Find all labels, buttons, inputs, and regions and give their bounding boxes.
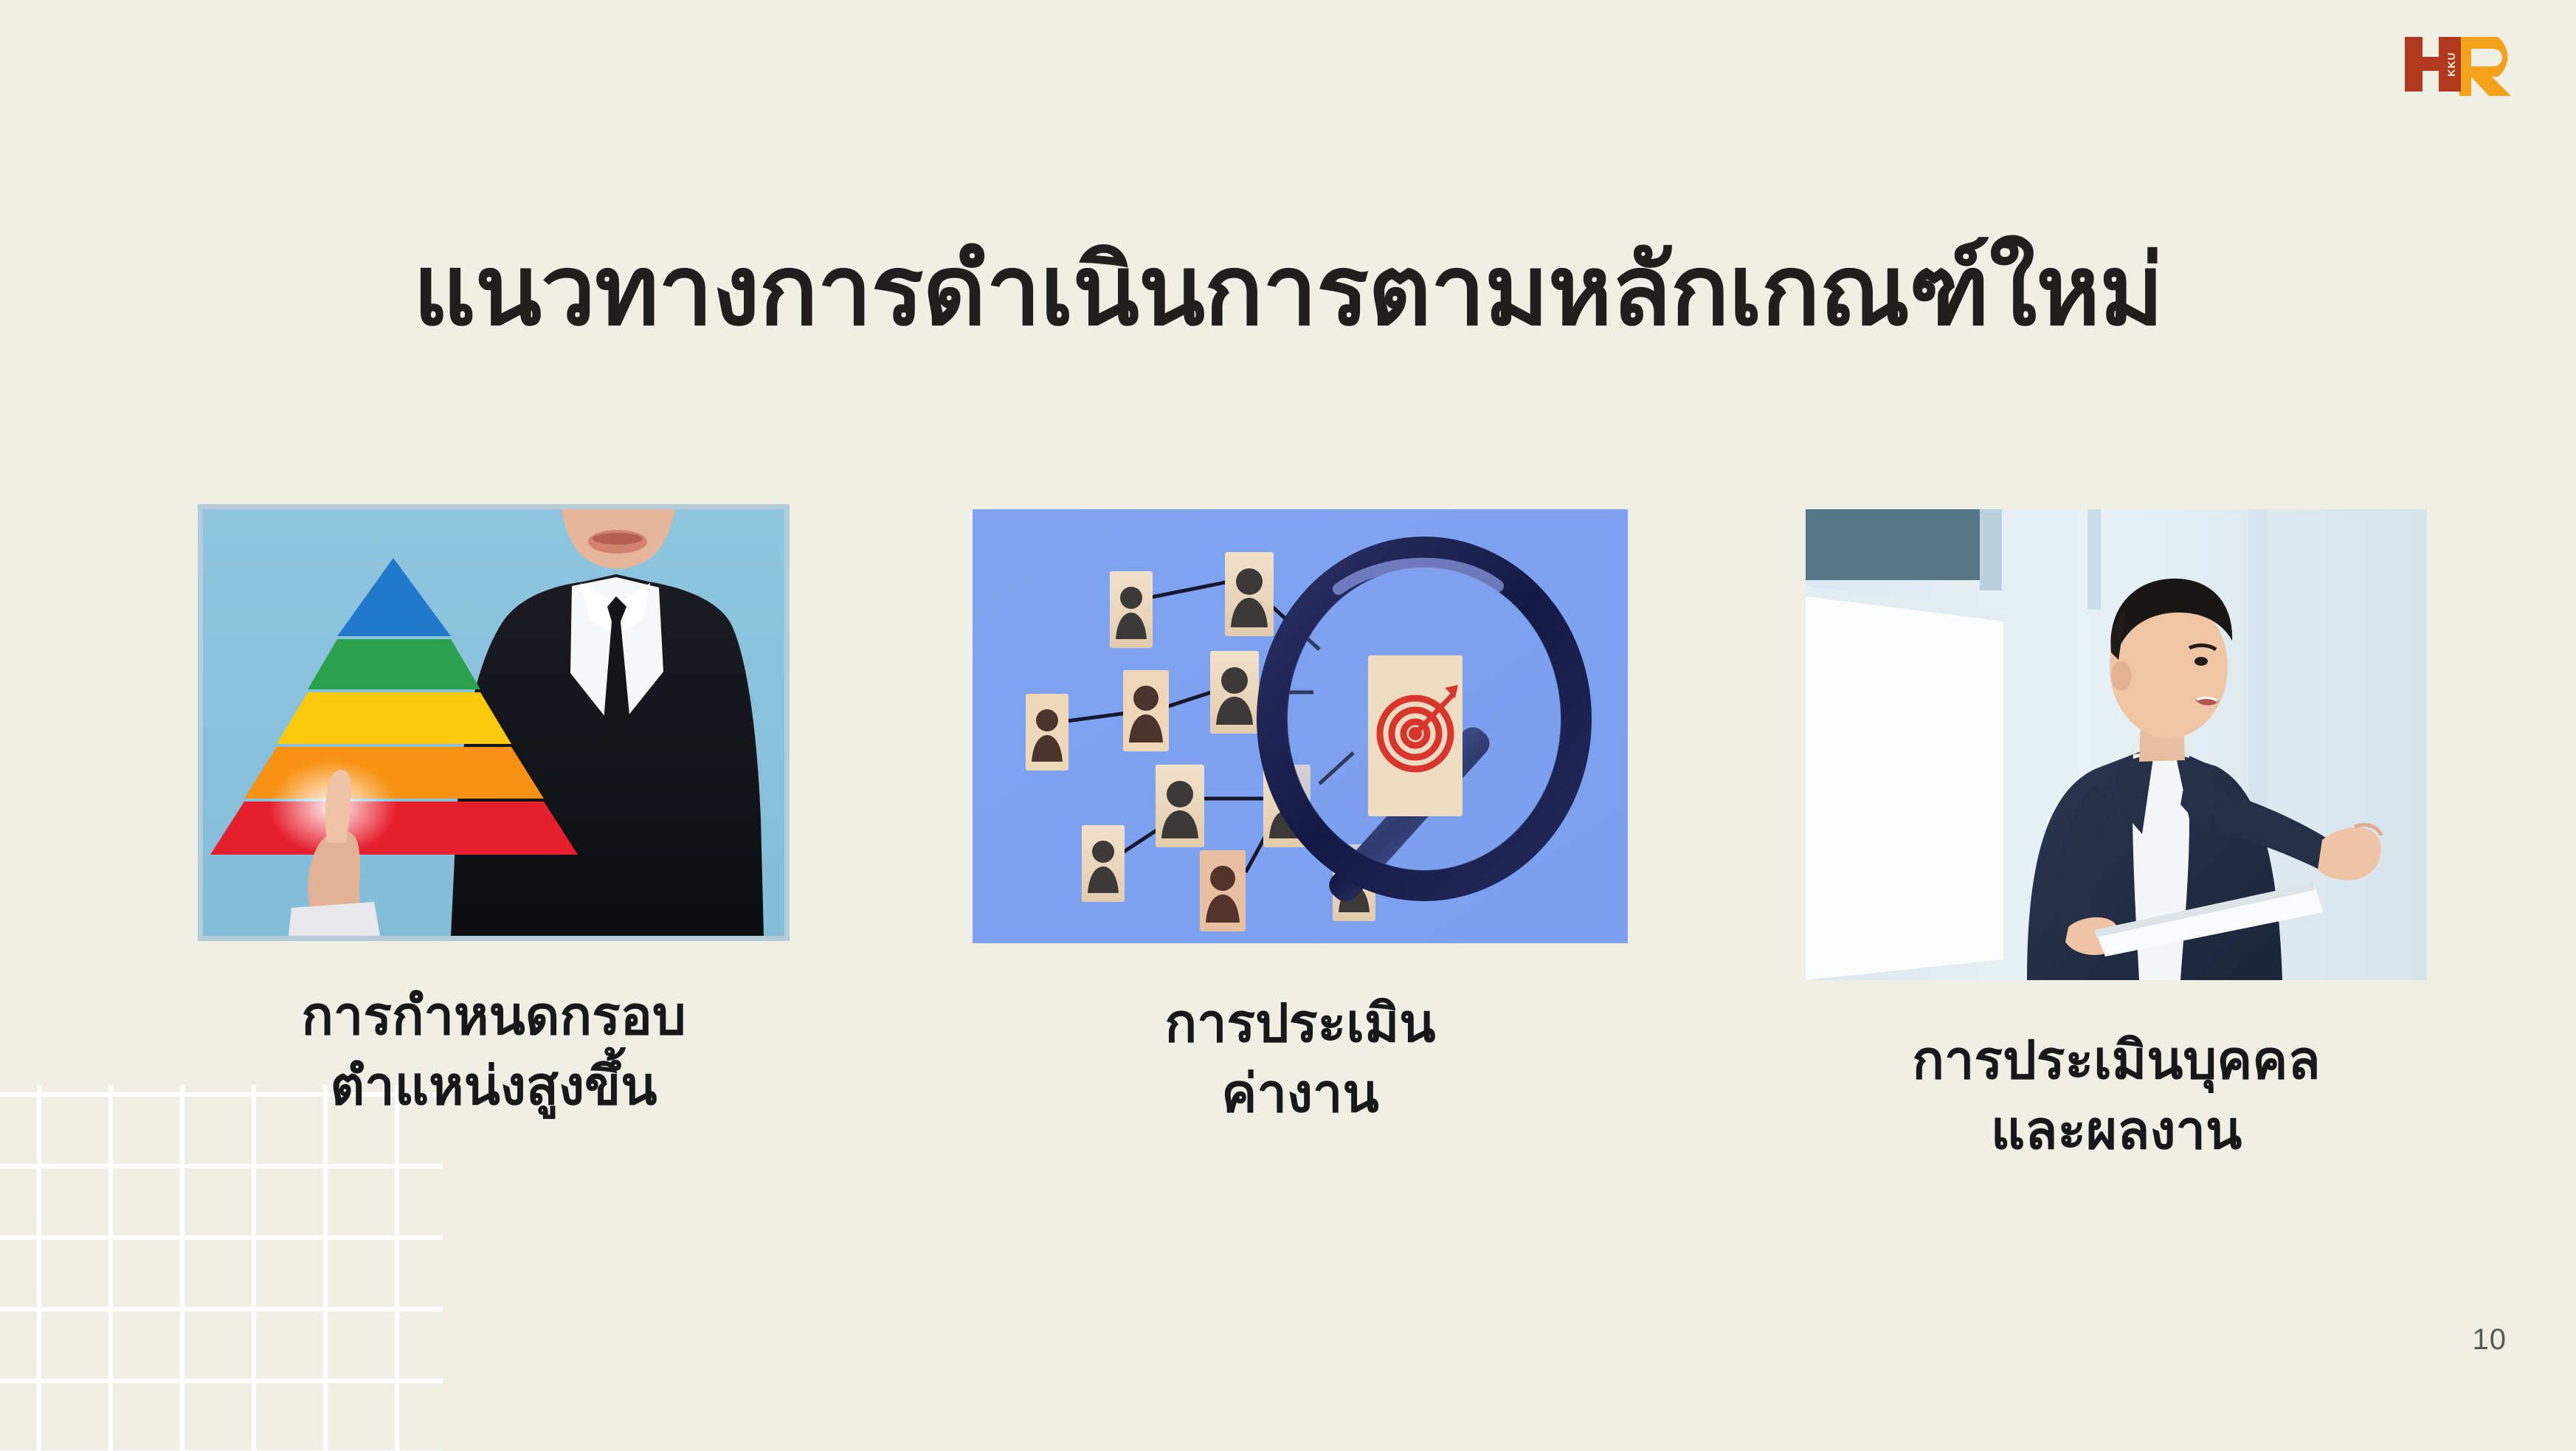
content-cards-row: การกำหนดกรอบ ตำแหน่งสูงขึ้น <box>0 509 2576 1247</box>
page-title: แนวทางการดำเนินการตามหลักเกณฑ์ใหม่ <box>0 236 2576 345</box>
card-caption: การประเมินบุคคล และผลงาน <box>1806 1026 2427 1166</box>
presenter-with-documents-photo <box>1806 509 2427 980</box>
card-caption-line: ค่างาน <box>973 1059 1628 1129</box>
card-caption-line: และผลงาน <box>1806 1096 2427 1166</box>
card-person-evaluation: การประเมินบุคคล และผลงาน <box>1806 509 2427 1166</box>
pyramid-hierarchy-businessman-photo <box>203 509 784 936</box>
card-caption-line: การประเมินบุคคล <box>1806 1026 2427 1096</box>
card-job-evaluation: การประเมิน ค่างาน <box>973 509 1628 1129</box>
card-caption-line: การกำหนดกรอบ <box>203 982 784 1052</box>
card-caption-line: การประเมิน <box>973 989 1628 1059</box>
logo-kku-text: KKU <box>2445 52 2457 76</box>
page-number: 10 <box>2473 1323 2507 1357</box>
network-magnifier-target-photo <box>973 509 1628 943</box>
card-pyramid: การกำหนดกรอบ ตำแหน่งสูงขึ้น <box>203 509 784 1122</box>
card-caption-line: ตำแหน่งสูงขึ้น <box>203 1052 784 1122</box>
kku-hr-logo: KKU <box>2403 32 2530 96</box>
presentation-slide: KKU แนวทางการดำเนินการตามหลักเกณฑ์ใหม่ <box>0 0 2576 1451</box>
card-caption: การประเมิน ค่างาน <box>973 989 1628 1129</box>
card-caption: การกำหนดกรอบ ตำแหน่งสูงขึ้น <box>203 982 784 1122</box>
